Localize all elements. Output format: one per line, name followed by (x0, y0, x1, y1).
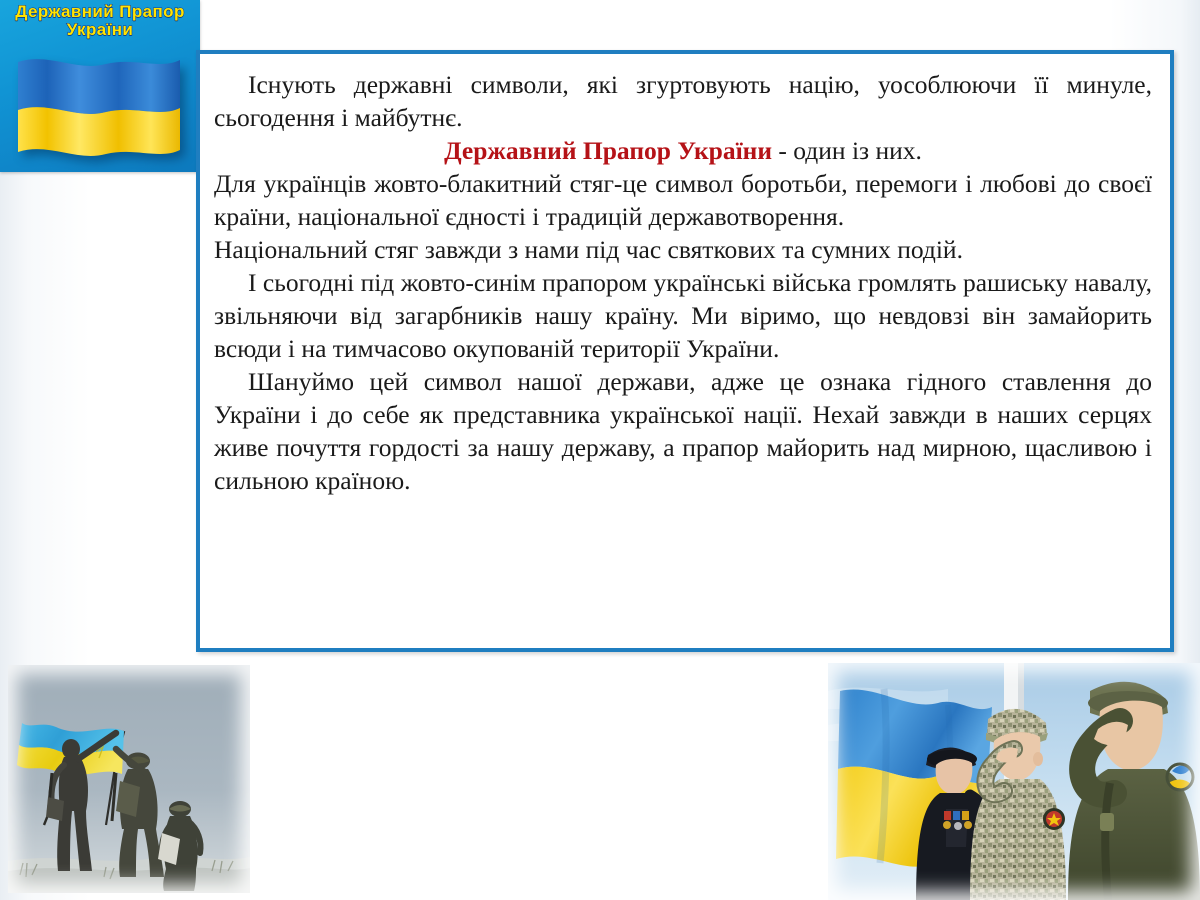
flag-title-highlight: Державний Прапор України (444, 136, 772, 165)
emblem-title: Державний Прапор України (0, 3, 200, 40)
main-text-panel: Існують державні символи, які згуртовуют… (196, 50, 1174, 652)
paragraph-1: Існують державні символи, які згуртовуют… (214, 68, 1152, 134)
soldiers-saluting-flag-photo (828, 663, 1200, 900)
slide-canvas: Державний Прапор України (0, 0, 1200, 900)
paragraph-4: Національний стяг завжди з нами під час … (214, 233, 1152, 266)
flag-title-tail: - один із них. (772, 136, 922, 165)
paragraph-3: Для українців жовто-блакитний стяг-це си… (214, 167, 1152, 233)
flag-emblem-card: Державний Прапор України (0, 0, 200, 172)
waving-flag-icon (14, 50, 184, 160)
paragraph-5: І сьогодні під жовто-синім прапором укра… (214, 266, 1152, 365)
paragraph-6: Шануймо цей символ нашої держави, адже ц… (214, 365, 1152, 497)
paragraph-2-title-line: Державний Прапор України - один із них. (214, 134, 1152, 167)
soldiers-raising-flag-photo (8, 665, 250, 893)
